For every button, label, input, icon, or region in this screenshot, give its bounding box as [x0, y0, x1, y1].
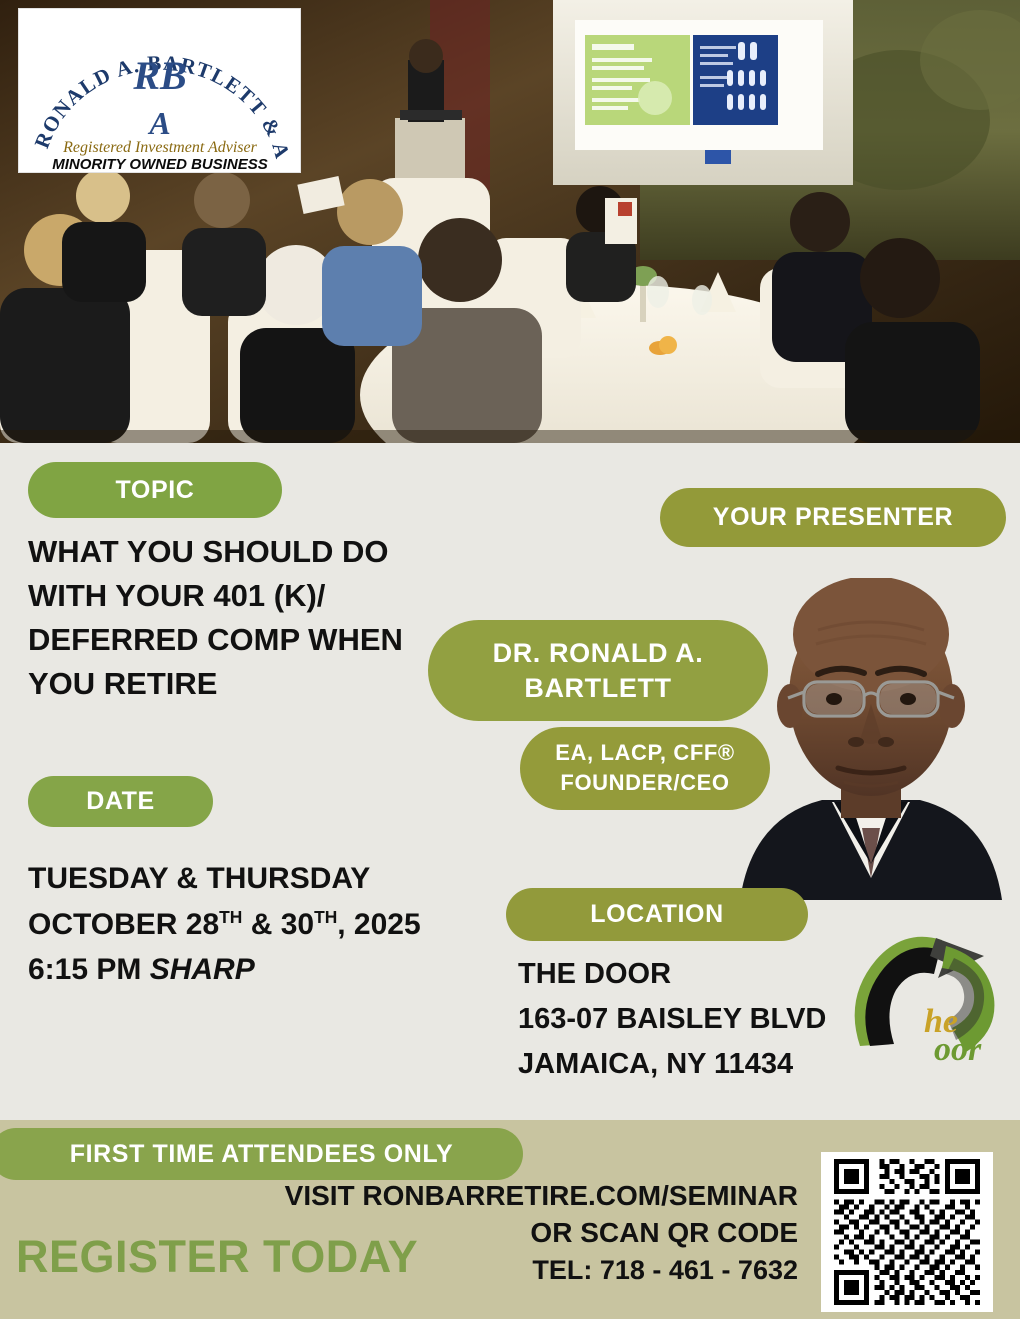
date-sup-2: TH: [314, 907, 337, 927]
date-year: , 2025: [337, 908, 420, 941]
presenter-creds-line-2: FOUNDER/CEO: [560, 770, 729, 797]
presenter-photo: [722, 578, 1020, 900]
footer-contact-block: VISIT RONBARRETIRE.COM/SEMINAR OR SCAN Q…: [238, 1178, 798, 1289]
date-time-emphasis: SHARP: [150, 953, 255, 986]
presenter-pill: YOUR PRESENTER: [660, 488, 1006, 547]
topic-text: WHAT YOU SHOULD DO WITH YOUR 401 (K)/ DE…: [28, 530, 440, 706]
topic-pill-label: TOPIC: [116, 475, 195, 506]
svg-text:RB: RB: [132, 53, 186, 98]
date-pill-label: DATE: [86, 786, 155, 817]
first-time-attendees-pill: FIRST TIME ATTENDEES ONLY: [0, 1128, 523, 1180]
date-month-days: OCTOBER 28: [28, 908, 219, 941]
presenter-creds-line-1: EA, LACP, CFF®: [555, 740, 734, 767]
qr-code[interactable]: [821, 1152, 993, 1312]
seminar-photo: RONALD A. BARTLETT & ASSOCIATES, Ltd. RB…: [0, 0, 1020, 443]
topic-pill: TOPIC: [28, 462, 282, 518]
presenter-name-line-2: BARTLETT: [524, 672, 671, 705]
location-pill: LOCATION: [506, 888, 808, 941]
svg-text:MINORITY OWNED BUSINESS: MINORITY OWNED BUSINESS: [52, 156, 268, 173]
footer-telephone[interactable]: TEL: 718 - 461 - 7632: [238, 1252, 798, 1289]
date-line-days: TUESDAY & THURSDAY: [28, 856, 478, 902]
the-door-logo: he oor: [838, 928, 1013, 1068]
flyer-root: RONALD A. BARTLETT & ASSOCIATES, Ltd. RB…: [0, 0, 1020, 1319]
date-mid: & 30: [242, 908, 314, 941]
footer-visit-url[interactable]: VISIT RONBARRETIRE.COM/SEMINAR: [238, 1178, 798, 1215]
svg-text:Registered Investment Adviser: Registered Investment Adviser: [62, 139, 257, 156]
date-text: TUESDAY & THURSDAY OCTOBER 28TH & 30TH, …: [28, 856, 478, 993]
presenter-name-pill: DR. RONALD A. BARTLETT: [428, 620, 768, 721]
first-time-attendees-label: FIRST TIME ATTENDEES ONLY: [70, 1139, 454, 1170]
location-pill-label: LOCATION: [590, 899, 724, 930]
date-sup-1: TH: [219, 907, 242, 927]
presenter-pill-label: YOUR PRESENTER: [713, 502, 953, 533]
date-line-full: OCTOBER 28TH & 30TH, 2025: [28, 902, 478, 948]
topic-line-2: WITH YOUR 401 (K)/: [28, 574, 440, 618]
footer-or-scan: OR SCAN QR CODE: [238, 1215, 798, 1252]
svg-text:oor: oor: [934, 1031, 982, 1068]
topic-line-4: YOU RETIRE: [28, 662, 440, 706]
company-logo: RONALD A. BARTLETT & ASSOCIATES, Ltd. RB…: [18, 8, 301, 173]
date-line-time: 6:15 PM SHARP: [28, 947, 478, 993]
topic-line-3: DEFERRED COMP WHEN: [28, 618, 440, 662]
date-pill: DATE: [28, 776, 213, 827]
date-time: 6:15 PM: [28, 953, 150, 986]
topic-line-1: WHAT YOU SHOULD DO: [28, 530, 440, 574]
svg-text:A: A: [147, 105, 170, 141]
presenter-credentials-pill: EA, LACP, CFF® FOUNDER/CEO: [520, 727, 770, 810]
presenter-name-line-1: DR. RONALD A.: [493, 637, 704, 670]
